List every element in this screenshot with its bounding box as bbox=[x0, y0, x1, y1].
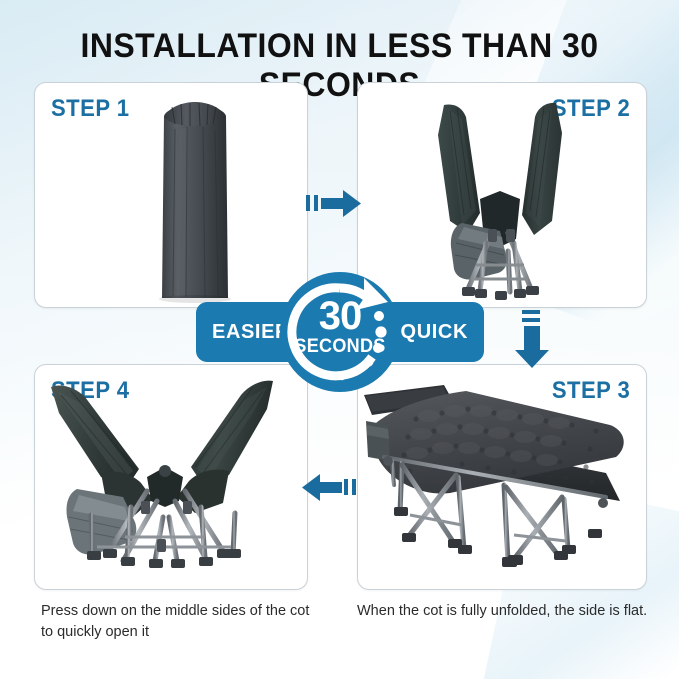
center-badge: EASIER QUICK 30 SECONDS bbox=[196, 302, 484, 362]
caption-right: When the cot is fully unfolded, the side… bbox=[357, 601, 657, 622]
badge-right-text: QUICK bbox=[401, 321, 468, 344]
panel-step-2: STEP 2 bbox=[357, 82, 647, 308]
arrow-dash-5 bbox=[344, 479, 348, 495]
arrow-dash-6 bbox=[352, 479, 356, 495]
arrow-step1-to-step2 bbox=[306, 182, 358, 224]
unfolded-cot-illustration bbox=[358, 365, 646, 589]
arrow-dash-3 bbox=[522, 310, 540, 314]
panel-step-1: STEP 1 bbox=[34, 82, 308, 308]
arrow-step3-to-step4 bbox=[302, 466, 356, 508]
badge-circle: 30 SECONDS bbox=[280, 272, 400, 392]
half-open-cot-illustration bbox=[35, 365, 307, 589]
arrow-down-icon bbox=[515, 326, 549, 368]
arrow-dash-1 bbox=[306, 195, 310, 211]
panel-step-3: STEP 3 bbox=[357, 364, 647, 590]
caption-left: Press down on the middle sides of the co… bbox=[41, 601, 311, 642]
arrow-left-icon bbox=[302, 474, 342, 501]
arrow-dash-2 bbox=[314, 195, 318, 211]
carry-bag-illustration bbox=[35, 83, 307, 307]
badge-number: 30 bbox=[280, 294, 400, 339]
arrow-right-icon bbox=[321, 190, 361, 217]
panel-step-4: STEP 4 bbox=[34, 364, 308, 590]
badge-left-text: EASIER bbox=[212, 321, 290, 344]
badge-unit: SECONDS bbox=[283, 336, 397, 358]
infographic-root: INSTALLATION IN LESS THAN 30 SECONDS STE… bbox=[0, 0, 679, 679]
folded-cot-illustration bbox=[358, 83, 646, 307]
arrow-step2-to-step3 bbox=[512, 310, 556, 364]
arrow-dash-4 bbox=[522, 318, 540, 322]
